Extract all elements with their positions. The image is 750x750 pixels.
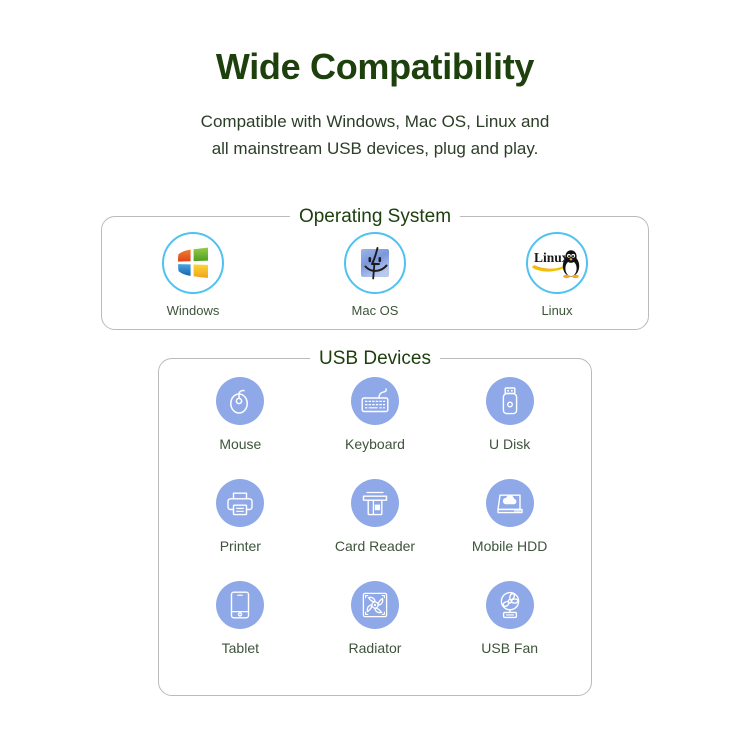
usb-item-printer: Printer bbox=[173, 479, 308, 581]
usb-item-label: Mouse bbox=[219, 436, 261, 452]
os-item-label: Windows bbox=[133, 303, 253, 318]
usb-icon-circle bbox=[486, 377, 534, 425]
usb-icon-circle bbox=[216, 581, 264, 629]
os-item-windows: Windows bbox=[133, 232, 253, 318]
cooling-radiator-icon bbox=[361, 591, 389, 619]
operating-system-panel: Operating System bbox=[101, 216, 649, 330]
usb-item-keyboard: Keyboard bbox=[308, 377, 443, 479]
usb-item-mobile-hdd: Mobile HDD bbox=[442, 479, 577, 581]
usb-item-radiator: Radiator bbox=[308, 581, 443, 683]
os-item-macos: Mac OS bbox=[315, 232, 435, 318]
usb-item-usb-fan: USB Fan bbox=[442, 581, 577, 683]
page-title: Wide Compatibility bbox=[0, 0, 750, 87]
usb-item-label: USB Fan bbox=[481, 640, 538, 656]
linux-tux-icon: Linux bbox=[532, 246, 582, 280]
mac-finder-icon bbox=[357, 245, 393, 281]
usb-item-label: Tablet bbox=[222, 640, 259, 656]
usb-icon-circle bbox=[216, 479, 264, 527]
usb-icon-circle bbox=[351, 581, 399, 629]
external-hard-drive-icon bbox=[495, 489, 525, 517]
usb-icon-circle bbox=[486, 581, 534, 629]
printer-icon bbox=[225, 489, 255, 517]
usb-devices-panel-legend: USB Devices bbox=[310, 348, 440, 369]
usb-item-label: Radiator bbox=[349, 640, 402, 656]
usb-devices-panel: USB Devices Mouse bbox=[158, 358, 592, 696]
usb-item-label: Printer bbox=[220, 538, 261, 554]
usb-item-mouse: Mouse bbox=[173, 377, 308, 479]
mouse-icon bbox=[226, 387, 254, 415]
windows-logo-icon bbox=[176, 247, 210, 279]
operating-system-panel-legend: Operating System bbox=[290, 206, 460, 227]
usb-item-label: Card Reader bbox=[335, 538, 415, 554]
usb-item-label: Keyboard bbox=[345, 436, 405, 452]
keyboard-icon bbox=[360, 387, 390, 415]
os-icon-ring bbox=[344, 232, 406, 294]
usb-icon-circle bbox=[486, 479, 534, 527]
usb-icon-circle bbox=[351, 377, 399, 425]
usb-item-label: U Disk bbox=[489, 436, 530, 452]
usb-item-card-reader: Card Reader bbox=[308, 479, 443, 581]
usb-item-tablet: Tablet bbox=[173, 581, 308, 683]
usb-icon-circle bbox=[216, 377, 264, 425]
subtitle-line-1: Compatible with Windows, Mac OS, Linux a… bbox=[0, 108, 750, 136]
tablet-icon bbox=[228, 590, 252, 620]
os-icon-ring: Linux bbox=[526, 232, 588, 294]
card-reader-icon bbox=[361, 489, 389, 517]
usb-icon-circle bbox=[351, 479, 399, 527]
os-item-linux: Linux bbox=[497, 232, 617, 318]
os-item-label: Linux bbox=[497, 303, 617, 318]
subtitle-line-2: all mainstream USB devices, plug and pla… bbox=[0, 135, 750, 163]
os-icon-ring bbox=[162, 232, 224, 294]
usb-fan-icon bbox=[496, 590, 524, 620]
usb-item-udisk: U Disk bbox=[442, 377, 577, 479]
operating-system-list: Windows bbox=[102, 217, 648, 318]
os-item-label: Mac OS bbox=[315, 303, 435, 318]
usb-item-label: Mobile HDD bbox=[472, 538, 547, 554]
usb-flash-drive-icon bbox=[497, 386, 523, 416]
usb-devices-grid: Mouse Keyboard bbox=[159, 359, 591, 695]
page-subtitle: Compatible with Windows, Mac OS, Linux a… bbox=[0, 87, 750, 163]
